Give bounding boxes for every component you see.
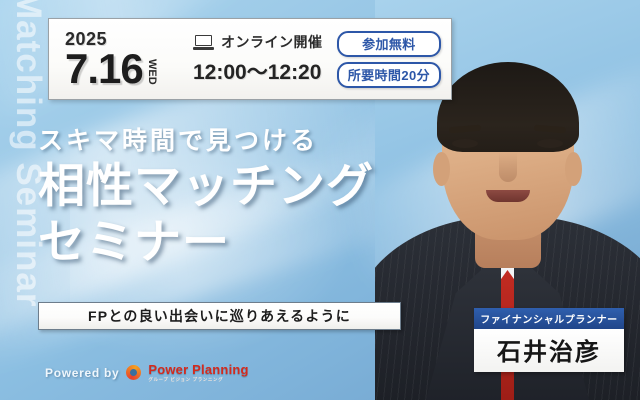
powered-by-block: Powered by Power Planning グループ ビジョン プランニ… — [45, 363, 249, 383]
status-badge-free: 参加無料 — [337, 31, 441, 57]
speaker-name: 石井治彦 — [474, 329, 624, 372]
event-day-of-week: WED — [146, 59, 158, 85]
event-format-row: オンライン開催 — [193, 32, 333, 52]
event-date-block: 2025 7.16 WED — [49, 30, 193, 89]
ear-right — [565, 152, 582, 186]
status-badge-duration: 所要時間20分 — [337, 62, 441, 88]
headline-kicker: スキマ時間で見つける — [38, 128, 458, 156]
seminar-banner: Matching Seminar 2025 7.16 WED — [0, 0, 640, 400]
speaker-name-plate: ファイナンシャルプランナー 石井治彦 — [474, 308, 624, 372]
power-planning-logo-icon — [126, 365, 141, 380]
event-format-label: オンライン開催 — [221, 32, 323, 52]
subtitle-text: FPとの良い出会いに巡りあえるように — [88, 306, 351, 326]
nose-shape — [499, 152, 517, 182]
subtitle-bar: FPとの良い出会いに巡りあえるように — [38, 302, 401, 330]
event-time: 12:00〜12:20 — [193, 56, 333, 86]
power-planning-wordmark: Power Planning グループ ビジョン プランニング — [148, 363, 248, 383]
mouth-shape — [486, 190, 530, 202]
event-detail-block: オンライン開催 12:00〜12:20 — [193, 32, 337, 86]
logo-subtitle: グループ ビジョン プランニング — [148, 378, 248, 383]
event-info-box: 2025 7.16 WED オンライン開催 12:00〜12:20 参加無料 所… — [48, 18, 452, 100]
laptop-icon — [193, 35, 214, 50]
headline-block: スキマ時間で見つける 相性マッチング セミナー — [38, 128, 458, 269]
logo-name: Power Planning — [148, 363, 248, 376]
speaker-role: ファイナンシャルプランナー — [474, 308, 624, 329]
event-date: 7.16 — [65, 50, 143, 89]
eye-right — [537, 139, 563, 148]
headline-line-2: セミナー — [38, 216, 458, 269]
event-badges: 参加無料 所要時間20分 — [337, 31, 451, 88]
headline-line-1: 相性マッチング — [38, 160, 458, 213]
event-day-row: 7.16 WED — [65, 50, 193, 89]
powered-by-prefix: Powered by — [45, 366, 119, 380]
